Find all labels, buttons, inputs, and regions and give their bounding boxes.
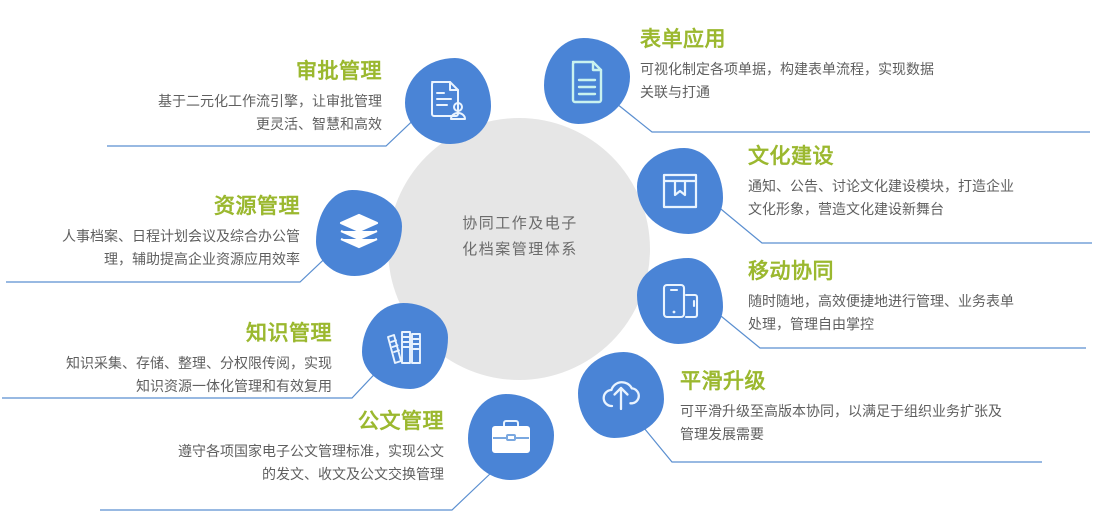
item-resource: 资源管理 人事档案、日程计划会议及综合办公管 理，辅助提高企业资源应用效率 xyxy=(8,193,300,271)
bookmark-box-icon xyxy=(659,170,701,212)
blob-official[interactable] xyxy=(468,394,554,480)
item-mobile: 移动协同 随时随地，高效便捷地进行管理、业务表单 处理，管理自由掌控 xyxy=(748,258,1068,336)
item-mobile-title: 移动协同 xyxy=(748,258,1068,286)
blob-knowledge[interactable] xyxy=(362,303,448,389)
item-knowledge: 知识管理 知识采集、存储、整理、分权限传阅，实现 知识资源一体化管理和有效复用 xyxy=(2,320,332,398)
item-knowledge-desc: 知识采集、存储、整理、分权限传阅，实现 知识资源一体化管理和有效复用 xyxy=(2,352,332,398)
blob-culture[interactable] xyxy=(637,148,723,234)
center-label: 协同工作及电子 化档案管理体系 xyxy=(400,210,640,262)
blob-form[interactable] xyxy=(544,38,630,124)
item-official-title: 公文管理 xyxy=(104,408,444,436)
item-smooth: 平滑升级 可平滑升级至高版本协同，以满足于组织业务扩张及 管理发展需要 xyxy=(680,368,1080,446)
item-culture-title: 文化建设 xyxy=(748,143,1078,171)
blob-mobile[interactable] xyxy=(637,258,723,344)
infographic-canvas: 协同工作及电子 化档案管理体系 xyxy=(0,0,1099,532)
item-approval-title: 审批管理 xyxy=(92,58,382,86)
briefcase-icon xyxy=(488,416,534,458)
item-smooth-title: 平滑升级 xyxy=(680,368,1080,396)
item-approval-desc: 基于二元化工作流引擎，让审批管理 更灵活、智慧和高效 xyxy=(92,90,382,136)
item-form-title: 表单应用 xyxy=(640,26,1040,54)
item-form: 表单应用 可视化制定各项单据，构建表单流程，实现数据 关联与打通 xyxy=(640,26,1040,104)
blob-approval[interactable] xyxy=(405,58,491,144)
item-smooth-desc: 可平滑升级至高版本协同，以满足于组织业务扩张及 管理发展需要 xyxy=(680,400,1080,446)
phone-tablet-icon xyxy=(658,279,702,323)
item-resource-desc: 人事档案、日程计划会议及综合办公管 理，辅助提高企业资源应用效率 xyxy=(8,225,300,271)
item-culture: 文化建设 通知、公告、讨论文化建设模块，打造企业 文化形象，营造文化建设新舞台 xyxy=(748,143,1078,221)
item-resource-title: 资源管理 xyxy=(8,193,300,221)
item-official-desc: 遵守各项国家电子公文管理标准，实现公文 的发文、收文及公文交换管理 xyxy=(104,440,444,486)
layers-stack-icon xyxy=(336,210,382,256)
item-form-desc: 可视化制定各项单据，构建表单流程，实现数据 关联与打通 xyxy=(640,58,1040,104)
item-official: 公文管理 遵守各项国家电子公文管理标准，实现公文 的发文、收文及公文交换管理 xyxy=(104,408,444,486)
item-knowledge-title: 知识管理 xyxy=(2,320,332,348)
item-mobile-desc: 随时随地，高效便捷地进行管理、业务表单 处理，管理自由掌控 xyxy=(748,290,1068,336)
blob-smooth[interactable] xyxy=(578,352,664,438)
document-person-icon xyxy=(424,77,472,125)
item-culture-desc: 通知、公告、讨论文化建设模块，打造企业 文化形象，营造文化建设新舞台 xyxy=(748,175,1078,221)
books-icon xyxy=(382,323,428,369)
cloud-upload-icon xyxy=(597,373,645,417)
document-lines-icon xyxy=(565,58,609,104)
item-approval: 审批管理 基于二元化工作流引擎，让审批管理 更灵活、智慧和高效 xyxy=(92,58,382,136)
